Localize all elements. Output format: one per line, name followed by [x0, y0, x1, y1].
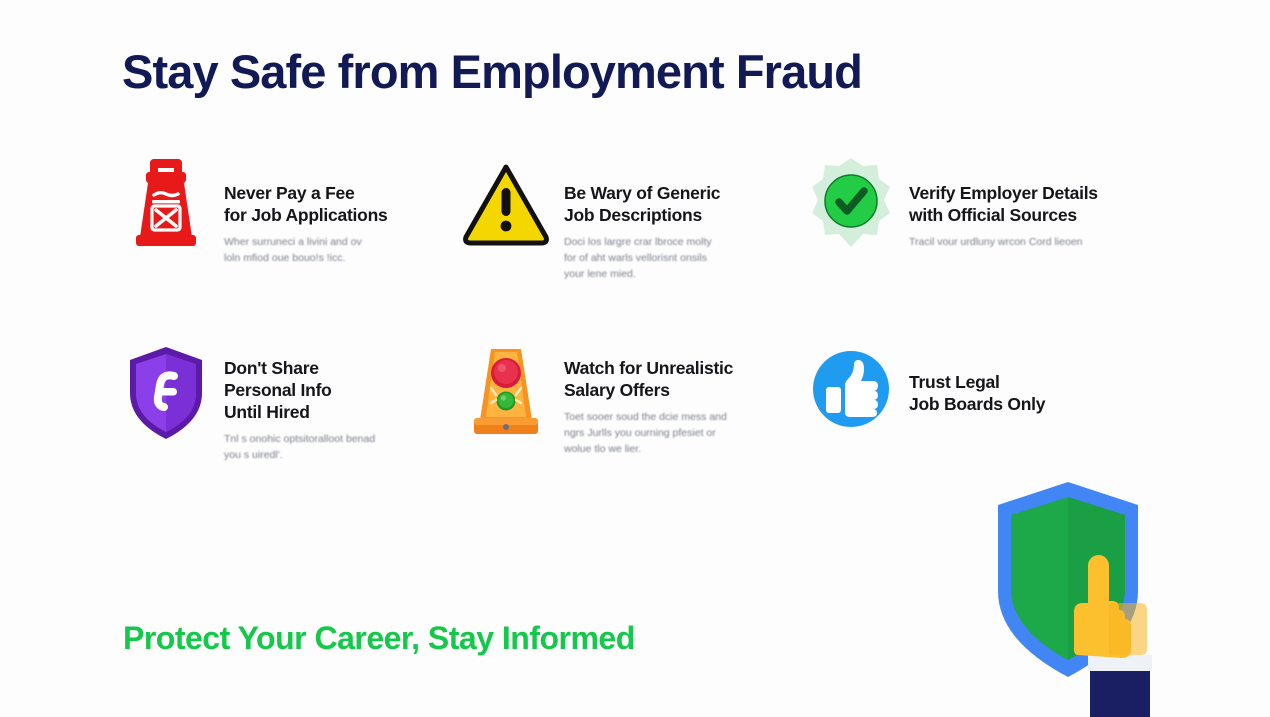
- tip-card-heading: Verify Employer Details with Official So…: [909, 182, 1098, 226]
- tip-card-verify-employer: Verify Employer Details with Official So…: [807, 155, 1157, 343]
- purple-shield-lock-icon: [122, 343, 210, 443]
- tip-card-body: Never Pay a Fee for Job Applications Whe…: [224, 155, 388, 267]
- thumbs-up-circle-icon: [807, 343, 895, 443]
- tip-card-text: Tnl s onohic optsitoralloot benad you s …: [224, 432, 375, 464]
- infographic-poster: Stay Safe from Employment Fraud: [0, 0, 1270, 717]
- tip-card-heading: Watch for Unrealistic Salary Offers: [564, 357, 733, 401]
- tip-card-never-pay-fee: Never Pay a Fee for Job Applications Whe…: [122, 155, 462, 343]
- traffic-beacon-icon: [462, 343, 550, 443]
- tip-card-heading: Don't Share Personal Info Until Hired: [224, 357, 375, 423]
- tagline: Protect Your Career, Stay Informed: [123, 620, 635, 657]
- index-finger: [1088, 555, 1109, 617]
- tip-card-trust-legal-boards: Trust Legal Job Boards Only: [807, 343, 1157, 464]
- tip-card-body: Be Wary of Generic Job Descriptions Doci…: [564, 155, 720, 283]
- page-title: Stay Safe from Employment Fraud: [122, 44, 862, 99]
- tip-card-heading: Be Wary of Generic Job Descriptions: [564, 182, 720, 226]
- tip-card-unrealistic-salary: Watch for Unrealistic Salary Offers Toet…: [462, 343, 807, 464]
- tip-card-text: Wher surruneci a livini and ov loln mfio…: [224, 235, 388, 267]
- tip-card-heading: Trust Legal Job Boards Only: [909, 371, 1045, 415]
- tip-card-generic-descriptions: Be Wary of Generic Job Descriptions Doci…: [462, 155, 807, 343]
- tip-card-dont-share-info: Don't Share Personal Info Until Hired Tn…: [122, 343, 462, 464]
- no-fee-red-canister-icon: [122, 155, 210, 251]
- tip-card-text: Tracil vour urdluny wrcon Cord lieoen: [909, 235, 1098, 251]
- tip-card-text: Doci los largre crar lbroce molty for of…: [564, 235, 720, 283]
- tips-grid: Never Pay a Fee for Job Applications Whe…: [122, 155, 1162, 464]
- tip-card-body: Watch for Unrealistic Salary Offers Toet…: [564, 343, 733, 458]
- warning-triangle-icon: [462, 155, 550, 251]
- sleeve: [1090, 667, 1150, 717]
- tip-card-body: Trust Legal Job Boards Only: [909, 343, 1045, 424]
- shield-with-pointing-hand-illustration: [980, 470, 1270, 717]
- tip-card-body: Verify Employer Details with Official So…: [909, 155, 1098, 251]
- tip-card-body: Don't Share Personal Info Until Hired Tn…: [224, 343, 375, 464]
- tip-card-text: Toet sooer soud the dcie mess and ngrs J…: [564, 410, 733, 458]
- verified-check-badge-icon: [807, 155, 895, 251]
- tip-card-heading: Never Pay a Fee for Job Applications: [224, 182, 388, 226]
